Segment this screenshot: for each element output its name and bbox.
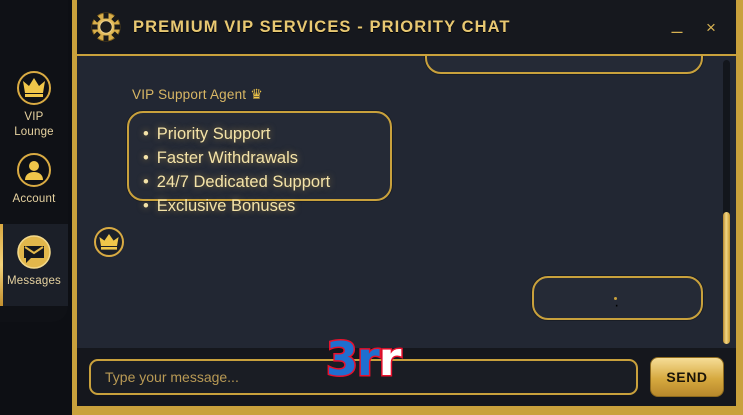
send-button[interactable]: SEND (650, 357, 724, 397)
chat-scrollbar-thumb[interactable] (723, 212, 730, 344)
list-item: 24/7 Dedicated Support (143, 170, 376, 194)
avatar (93, 226, 125, 258)
sidebar-item-vip-lounge[interactable]: VIP Lounge (0, 60, 68, 142)
minimize-button[interactable]: _ (668, 15, 686, 32)
message-composer: SEND (77, 348, 736, 406)
sidebar-item-label: Messages (7, 275, 61, 288)
crown-circle-icon (14, 68, 54, 108)
chat-message-list[interactable]: VIP Support Agent♛ Priority Support Fast… (77, 56, 736, 348)
list-item: Priority Support (143, 122, 376, 146)
sidebar-item-label: Account (13, 193, 56, 206)
sidebar-item-account[interactable]: Account (0, 142, 68, 224)
message-bubble-features[interactable]: Priority Support Faster Withdrawals 24/7… (127, 111, 392, 201)
sidebar-item-label-2: Lounge (14, 126, 54, 139)
message-input-wrapper[interactable] (89, 359, 638, 395)
window-controls: _ × (668, 19, 726, 36)
message-bubble-outgoing-text: · (614, 297, 617, 300)
sidebar: VIP Lounge Account (0, 0, 72, 415)
sidebar-items: VIP Lounge Account (0, 60, 68, 306)
close-icon[interactable]: × (702, 19, 720, 36)
feature-list: Priority Support Faster Withdrawals 24/7… (143, 122, 376, 218)
window-inner: PREMIUM VIP SERVICES - PRIORITY CHAT _ ×… (77, 0, 736, 406)
agent-name-text: VIP Support Agent (132, 87, 246, 102)
casino-chip-icon (91, 12, 121, 42)
envelope-icon (14, 232, 54, 272)
message-input[interactable] (103, 368, 624, 386)
vip-chat-window: PREMIUM VIP SERVICES - PRIORITY CHAT _ ×… (72, 0, 743, 415)
person-circle-icon (14, 150, 54, 190)
crown-icon: ♛ (250, 86, 263, 102)
screen: VIP Lounge Account (0, 0, 743, 415)
agent-name-label: VIP Support Agent♛ (132, 86, 263, 103)
sidebar-item-label: VIP (24, 111, 43, 124)
message-bubble-outgoing[interactable]: · (532, 276, 703, 320)
chat-scrollbar-track[interactable] (723, 60, 730, 344)
list-item: Exclusive Bonuses (143, 194, 376, 218)
sidebar-item-messages[interactable]: Messages (0, 224, 68, 306)
window-title: PREMIUM VIP SERVICES - PRIORITY CHAT (133, 18, 511, 37)
list-item: Faster Withdrawals (143, 146, 376, 170)
title-bar: PREMIUM VIP SERVICES - PRIORITY CHAT _ × (77, 0, 736, 56)
message-bubble-partial[interactable] (425, 56, 703, 74)
